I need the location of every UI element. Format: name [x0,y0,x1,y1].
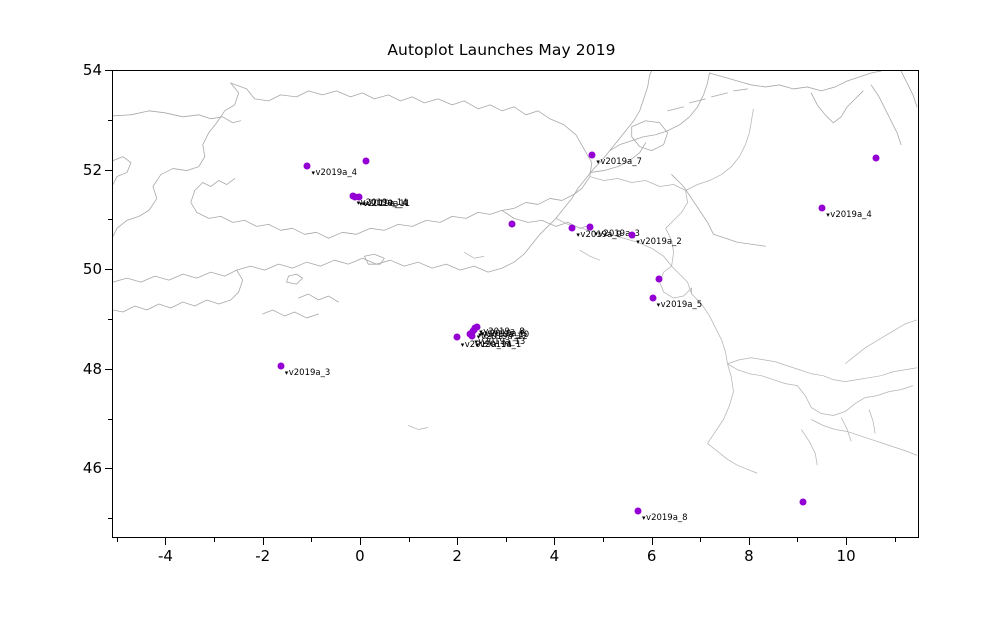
data-point[interactable] [569,225,576,232]
y-tick-minor [108,219,112,220]
x-tick-major [165,538,166,545]
data-point[interactable] [304,162,311,169]
x-tick-minor [895,538,896,542]
x-tick-label: 4 [550,547,560,565]
data-point-label: v2019a_8 [642,514,688,523]
data-point-label: v2019a_1 [476,341,522,350]
y-tick-minor [108,120,112,121]
data-point[interactable] [587,224,594,231]
data-point[interactable] [635,507,642,514]
data-point-label: v2019a_4 [826,211,872,220]
data-point[interactable] [473,323,480,330]
data-point[interactable] [800,498,807,505]
basemap-coastlines [113,71,918,537]
data-point[interactable] [655,276,662,283]
x-tick-label: -2 [255,547,270,565]
x-tick-label: 6 [647,547,657,565]
data-point-label: v2019a_7 [596,158,642,167]
x-tick-major [652,538,653,545]
data-point[interactable] [277,362,284,369]
data-point[interactable] [453,333,460,340]
data-point[interactable] [629,232,636,239]
x-tick-minor [214,538,215,542]
x-tick-label: 2 [452,547,462,565]
chart-title: Autoplot Launches May 2019 [0,41,1003,59]
y-tick-label: 46 [60,459,102,477]
y-tick-minor [108,419,112,420]
y-tick-label: 54 [60,61,102,79]
y-tick-label: 52 [60,161,102,179]
x-tick-label: 0 [355,547,365,565]
x-tick-major [360,538,361,545]
x-tick-minor [700,538,701,542]
data-point[interactable] [468,332,475,339]
x-tick-label: 10 [837,547,856,565]
y-tick-major [105,369,112,370]
y-tick-label: 50 [60,260,102,278]
data-point-label: v2019a_5 [657,301,703,310]
map-axes[interactable]: v2019a_4v2019a_14v2019a_11v2019a_4v2019a… [112,70,919,538]
data-point-label: v2019a_4 [363,200,409,209]
data-point-label: v2019a_4 [311,169,357,178]
data-point-label: v2019a_2 [636,238,682,247]
x-tick-label: -4 [158,547,173,565]
data-point[interactable] [873,155,880,162]
data-point[interactable] [649,294,656,301]
x-tick-label: 8 [744,547,754,565]
data-point-label: v2019a_6 [481,330,527,339]
x-tick-minor [506,538,507,542]
y-tick-minor [108,319,112,320]
x-tick-major [749,538,750,545]
y-tick-major [105,468,112,469]
x-tick-minor [603,538,604,542]
data-point[interactable] [508,220,515,227]
data-point[interactable] [355,194,362,201]
x-tick-major [554,538,555,545]
figure-canvas: Autoplot Launches May 2019 [0,0,1003,633]
x-tick-minor [797,538,798,542]
data-point[interactable] [819,204,826,211]
y-tick-major [105,70,112,71]
data-point[interactable] [589,152,596,159]
x-tick-minor [117,538,118,542]
data-point[interactable] [362,157,369,164]
x-tick-major [846,538,847,545]
x-tick-minor [409,538,410,542]
y-tick-label: 48 [60,360,102,378]
x-tick-major [457,538,458,545]
y-tick-major [105,269,112,270]
x-tick-minor [311,538,312,542]
y-tick-major [105,170,112,171]
data-point-label: v2019a_3 [285,369,331,378]
x-tick-major [263,538,264,545]
y-tick-minor [108,518,112,519]
